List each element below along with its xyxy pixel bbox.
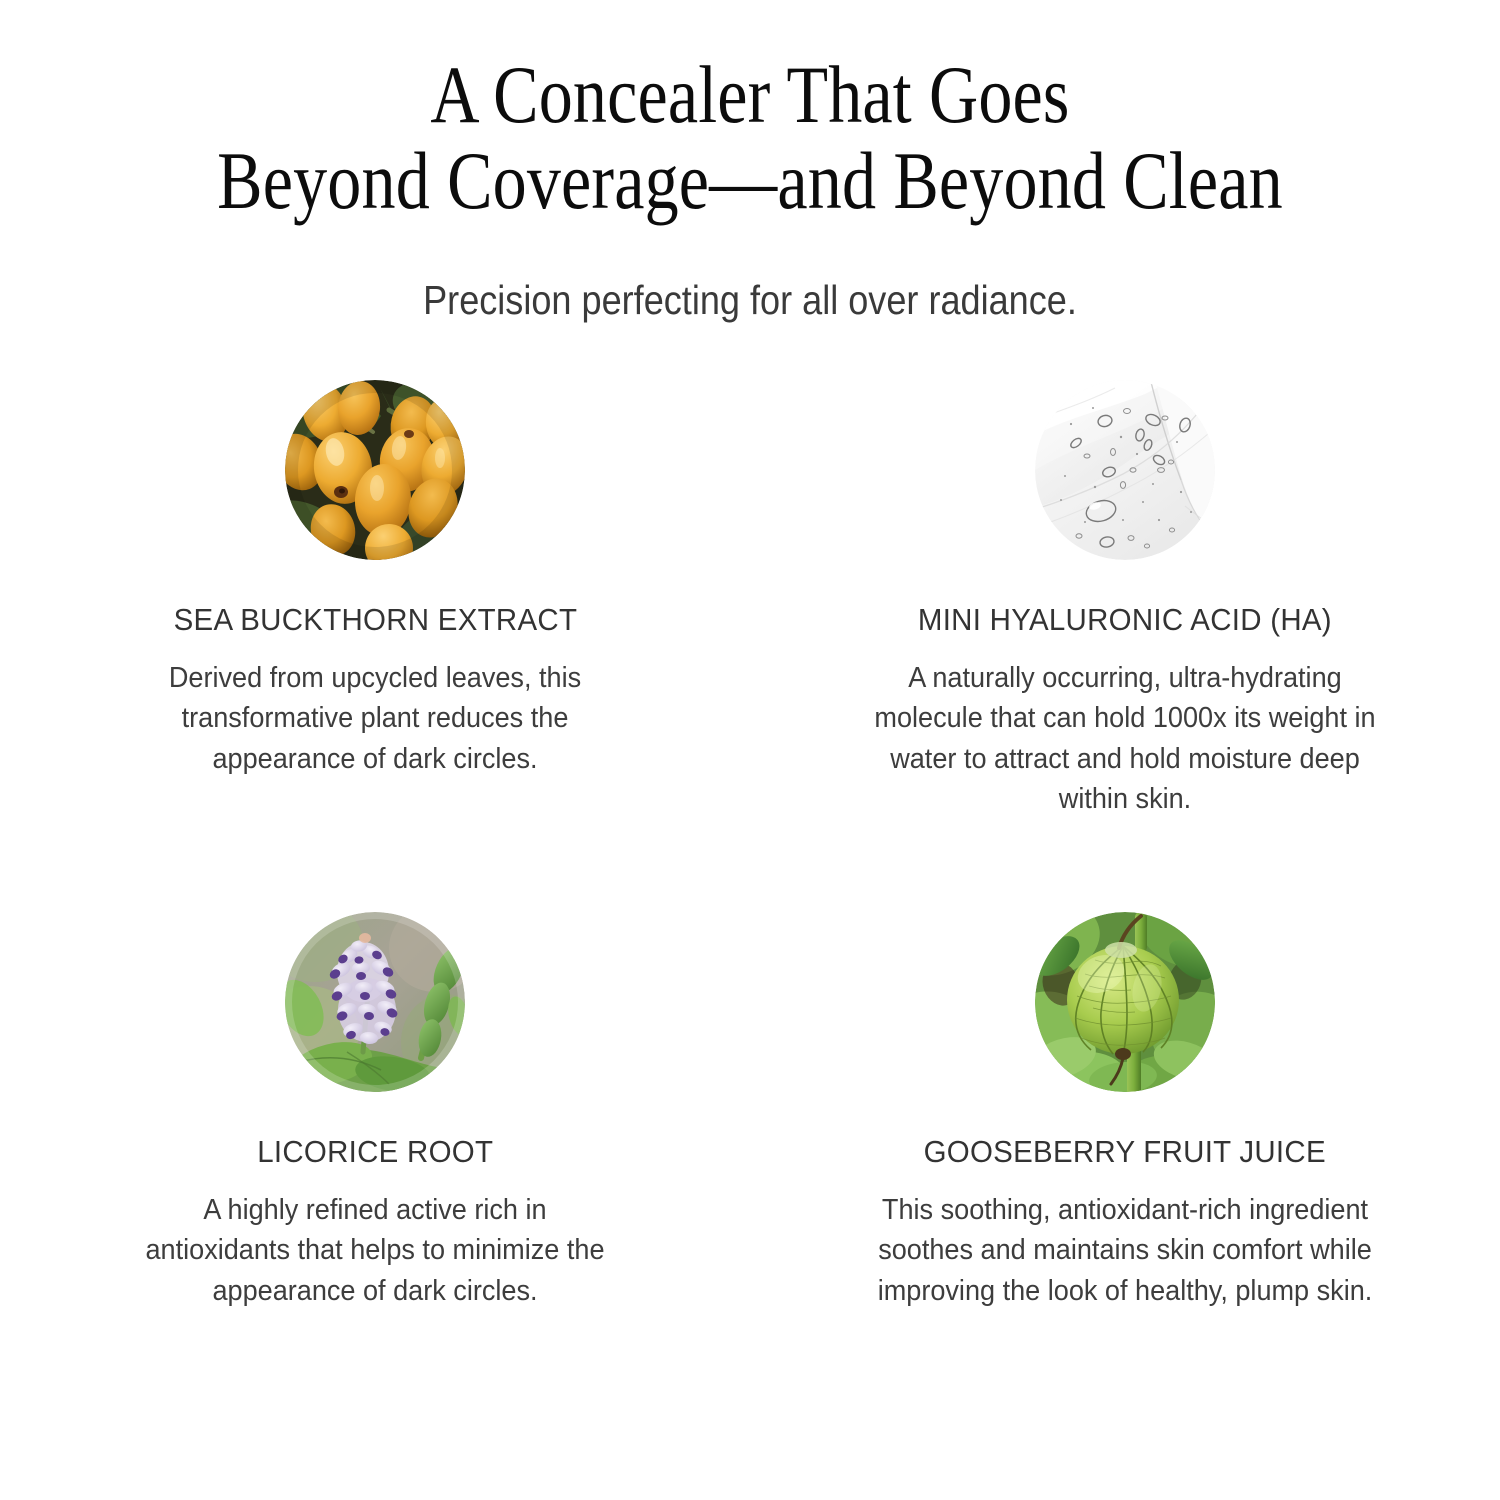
ingredient-description: Derived from upcycled leaves, this trans… — [138, 658, 613, 779]
ingredient-title: MINI HYALURONIC ACID (HA) — [918, 602, 1332, 638]
sea-buckthorn-berries-photo — [285, 380, 465, 560]
page-title: A Concealer That Goes Beyond Coverage—an… — [128, 52, 1373, 224]
ingredient-title: SEA BUCKTHORN EXTRACT — [173, 602, 577, 638]
ingredient-grid: SEA BUCKTHORN EXTRACT Derived from upcyc… — [0, 380, 1500, 1311]
hyaluronic-acid-gel-texture-photo — [1035, 380, 1215, 560]
ingredient-description: This soothing, antioxidant-rich ingredie… — [859, 1190, 1391, 1311]
ingredient-title: GOOSEBERRY FRUIT JUICE — [924, 1134, 1326, 1170]
ingredient-card-hyaluronic-acid: MINI HYALURONIC ACID (HA) A naturally oc… — [750, 380, 1500, 820]
page-header: A Concealer That Goes Beyond Coverage—an… — [0, 52, 1500, 325]
ingredient-card-sea-buckthorn: SEA BUCKTHORN EXTRACT Derived from upcyc… — [0, 380, 750, 820]
ingredient-title: LICORICE ROOT — [257, 1134, 493, 1170]
ingredient-card-licorice-root: LICORICE ROOT A highly refined active ri… — [0, 912, 750, 1311]
licorice-root-flower-photo — [285, 912, 465, 1092]
ingredient-description: A naturally occurring, ultra-hydrating m… — [859, 658, 1391, 820]
ingredient-description: A highly refined active rich in antioxid… — [138, 1190, 613, 1311]
ingredient-benefits-page: A Concealer That Goes Beyond Coverage—an… — [0, 0, 1500, 1500]
gooseberry-fruit-photo — [1035, 912, 1215, 1092]
ingredient-card-gooseberry: GOOSEBERRY FRUIT JUICE This soothing, an… — [750, 912, 1500, 1311]
page-subtitle: Precision perfecting for all over radian… — [90, 224, 1410, 325]
